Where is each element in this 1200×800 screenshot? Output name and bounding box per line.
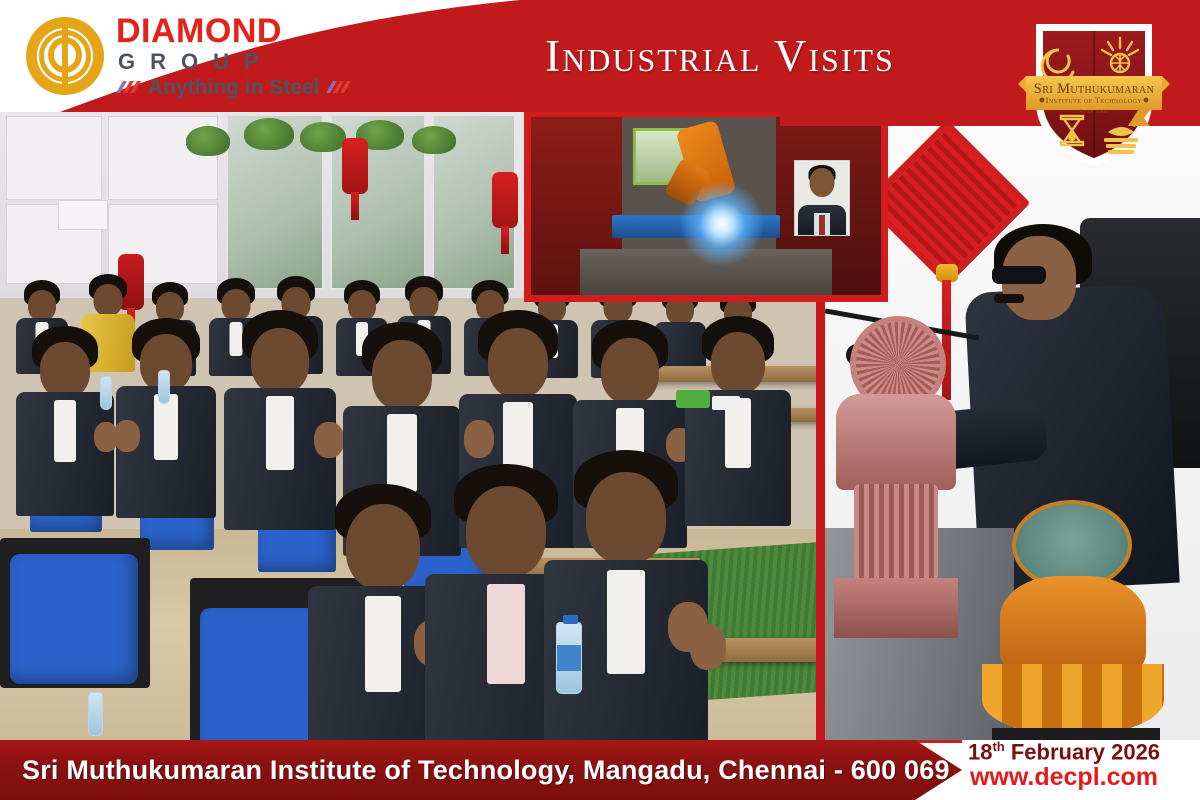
welding-spark-icon: [678, 181, 764, 267]
steel-arrow-icon: [116, 79, 142, 95]
event-meta: 18th February 2026 www.decpl.com: [944, 740, 1184, 798]
ashoka-pillar-icon: [830, 316, 960, 646]
poster-footer: Sri Muthukumaran Institute of Technology…: [0, 740, 1200, 800]
steel-arrow-icon: [326, 79, 352, 95]
brand-name-diamond: DIAMOND: [116, 14, 352, 48]
venue-banner: Sri Muthukumaran Institute of Technology…: [0, 740, 962, 800]
student-portrait-photo: [794, 160, 850, 236]
page-title: Industrial Visits: [460, 0, 980, 112]
projection-screen-photo: [524, 110, 888, 302]
event-date-day: 18: [968, 739, 992, 764]
website-link[interactable]: www.decpl.com: [944, 764, 1184, 791]
crest-institute-sub: Institute of Technology: [1046, 96, 1143, 105]
institute-crest-icon: Sri Muthukumaran Institute of Technology…: [1016, 14, 1172, 172]
brand-name-group: GROUP: [116, 49, 352, 75]
poster-root: DIAMOND GROUP Anything in Steel: [0, 0, 1200, 800]
ganesha-statue-icon: [974, 500, 1170, 744]
event-date: 18th February 2026: [944, 740, 1184, 764]
brand-tagline: Anything in Steel: [148, 77, 320, 98]
photo-gallery: [0, 108, 1200, 744]
crest-since: Since 1996: [1079, 109, 1108, 115]
venue-text: Sri Muthukumaran Institute of Technology…: [22, 755, 950, 786]
event-date-suffix: th: [992, 739, 1004, 754]
diamond-group-logo: DIAMOND GROUP Anything in Steel: [26, 8, 406, 104]
crest-institute-name: Sri Muthukumaran: [1034, 81, 1154, 97]
event-date-rest: February 2026: [1011, 739, 1160, 764]
sunglasses-icon: [992, 266, 1046, 284]
diamond-group-logo-icon: [26, 17, 104, 95]
